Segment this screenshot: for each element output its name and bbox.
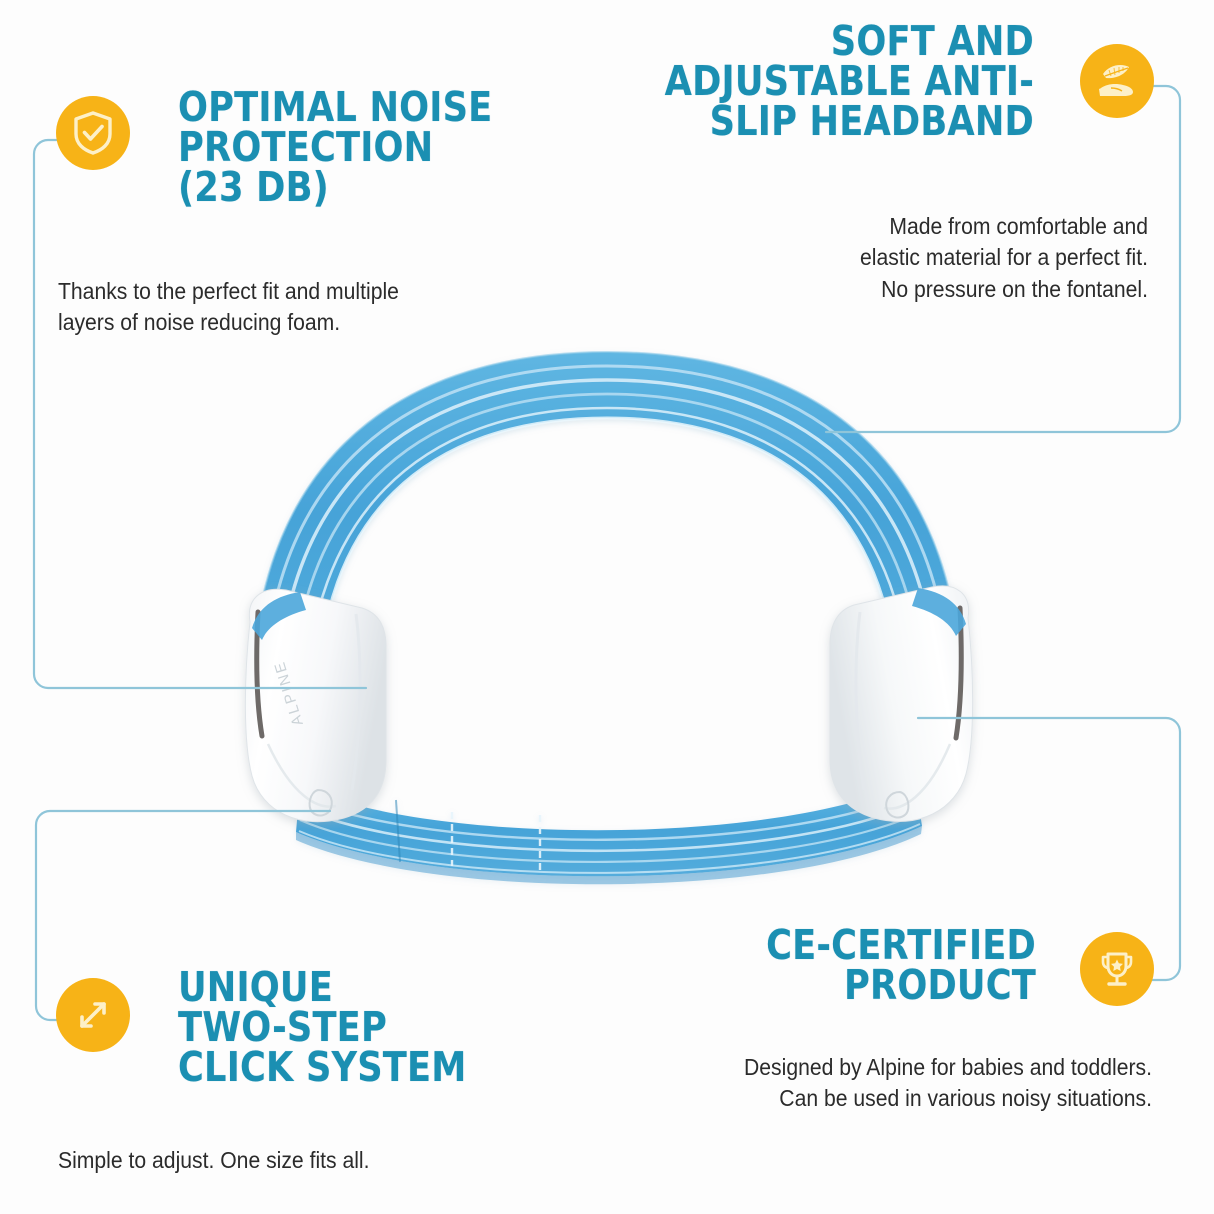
shield-check-icon [56, 96, 130, 170]
trophy-icon [1080, 932, 1154, 1006]
feature-body: Designed by Alpine for babies and toddle… [684, 1052, 1152, 1115]
feather-in-hand-icon [1080, 44, 1154, 118]
feature-headline: SOFT AND ADJUSTABLE ANTI- SLIP HEADBAND [552, 22, 1034, 141]
infographic-canvas: ALPINE [0, 0, 1214, 1214]
feature-body: Thanks to the perfect fit and multiple l… [58, 276, 508, 339]
diagonal-resize-arrow-icon [56, 978, 130, 1052]
feature-headline: CE-CERTIFIED PRODUCT [658, 926, 1036, 1006]
feature-headline: UNIQUE TWO-STEP CLICK SYSTEM [178, 968, 625, 1087]
bottom-strap [296, 780, 922, 884]
feature-body: Made from comfortable and elastic materi… [743, 211, 1148, 305]
feature-body: Simple to adjust. One size fits all. [58, 1145, 508, 1176]
